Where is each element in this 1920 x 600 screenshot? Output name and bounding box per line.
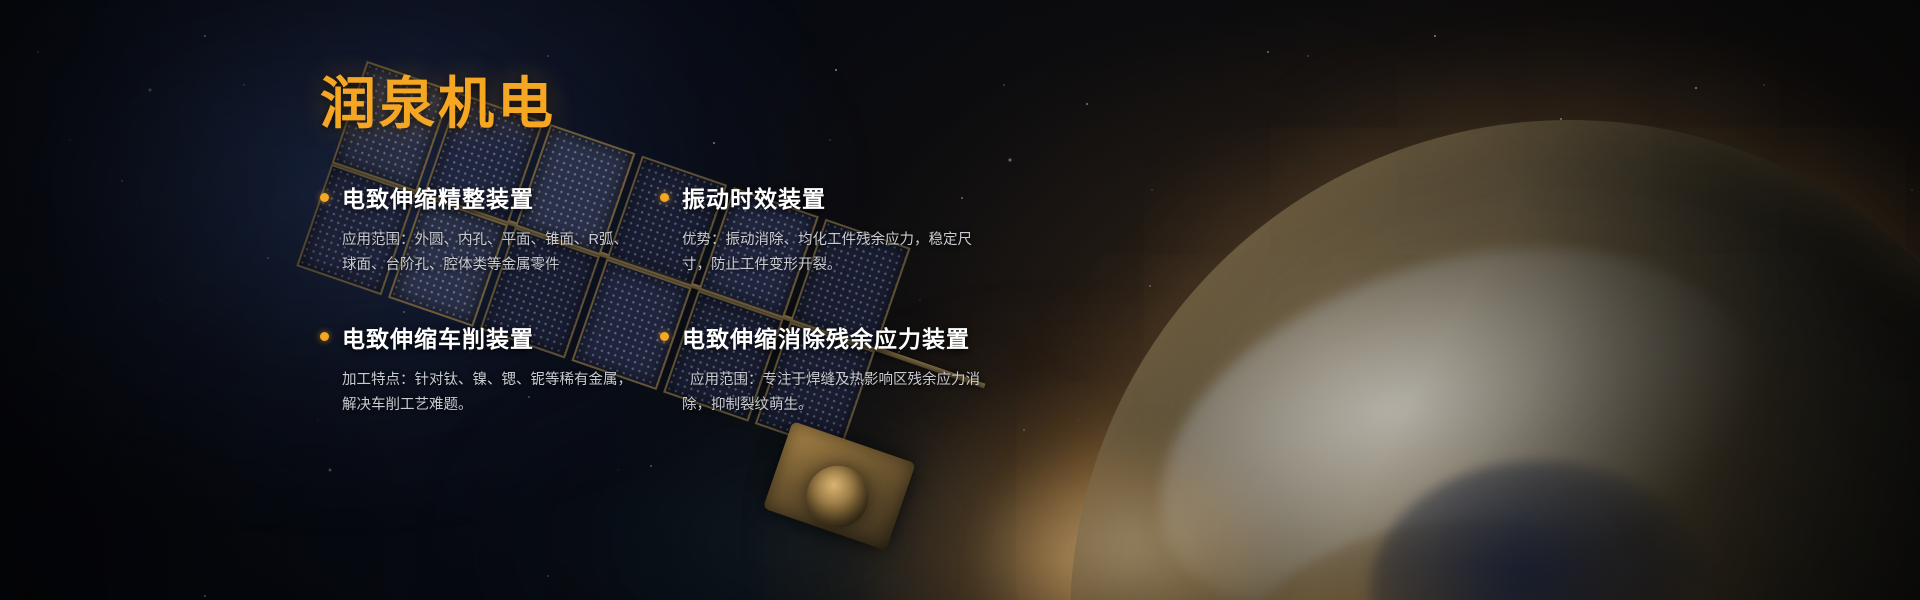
feature-title: 电致伸缩消除残余应力装置: [682, 320, 970, 354]
feature-heading: 振动时效装置: [660, 180, 1000, 214]
feature-description: 应用范围：专注于焊缝及热影响区残余应力消除，抑制裂纹萌生。: [682, 368, 982, 418]
brand-title: 润泉机电: [320, 76, 1020, 132]
feature-title: 电致伸缩精整装置: [342, 180, 534, 214]
feature-title: 振动时效装置: [682, 180, 826, 214]
feature-item-vibratory-stress-relief[interactable]: 振动时效装置 优势：振动消除、均化工件残余应力，稳定尺寸，防止工件变形开裂。: [660, 180, 1000, 278]
feature-description: 加工特点：针对钛、镍、锶、铌等稀有金属，解决车削工艺难题。: [342, 368, 642, 418]
dot-bullet-icon: [320, 332, 329, 341]
feature-description: 优势：振动消除、均化工件残余应力，稳定尺寸，防止工件变形开裂。: [682, 228, 982, 278]
hero-content: 润泉机电 电致伸缩精整装置 应用范围：外圆、内孔、平面、锥面、R弧、球面、台阶孔…: [320, 76, 1020, 418]
hero-banner: 润泉机电 电致伸缩精整装置 应用范围：外圆、内孔、平面、锥面、R弧、球面、台阶孔…: [0, 0, 1920, 600]
feature-item-residual-stress-removal[interactable]: 电致伸缩消除残余应力装置 应用范围：专注于焊缝及热影响区残余应力消除，抑制裂纹萌…: [660, 320, 1000, 418]
dot-bullet-icon: [660, 332, 669, 341]
feature-grid: 电致伸缩精整装置 应用范围：外圆、内孔、平面、锥面、R弧、球面、台阶孔、腔体类等…: [320, 180, 1020, 418]
feature-heading: 电致伸缩精整装置: [320, 180, 660, 214]
dot-bullet-icon: [320, 193, 329, 202]
feature-heading: 电致伸缩消除残余应力装置: [660, 320, 1000, 354]
feature-description: 应用范围：外圆、内孔、平面、锥面、R弧、球面、台阶孔、腔体类等金属零件: [342, 228, 642, 278]
feature-item-electrostrictive-turning[interactable]: 电致伸缩车削装置 加工特点：针对钛、镍、锶、铌等稀有金属，解决车削工艺难题。: [320, 320, 660, 418]
feature-title: 电致伸缩车削装置: [342, 320, 534, 354]
feature-heading: 电致伸缩车削装置: [320, 320, 660, 354]
dot-bullet-icon: [660, 193, 669, 202]
feature-item-electrostrictive-finishing[interactable]: 电致伸缩精整装置 应用范围：外圆、内孔、平面、锥面、R弧、球面、台阶孔、腔体类等…: [320, 180, 660, 278]
